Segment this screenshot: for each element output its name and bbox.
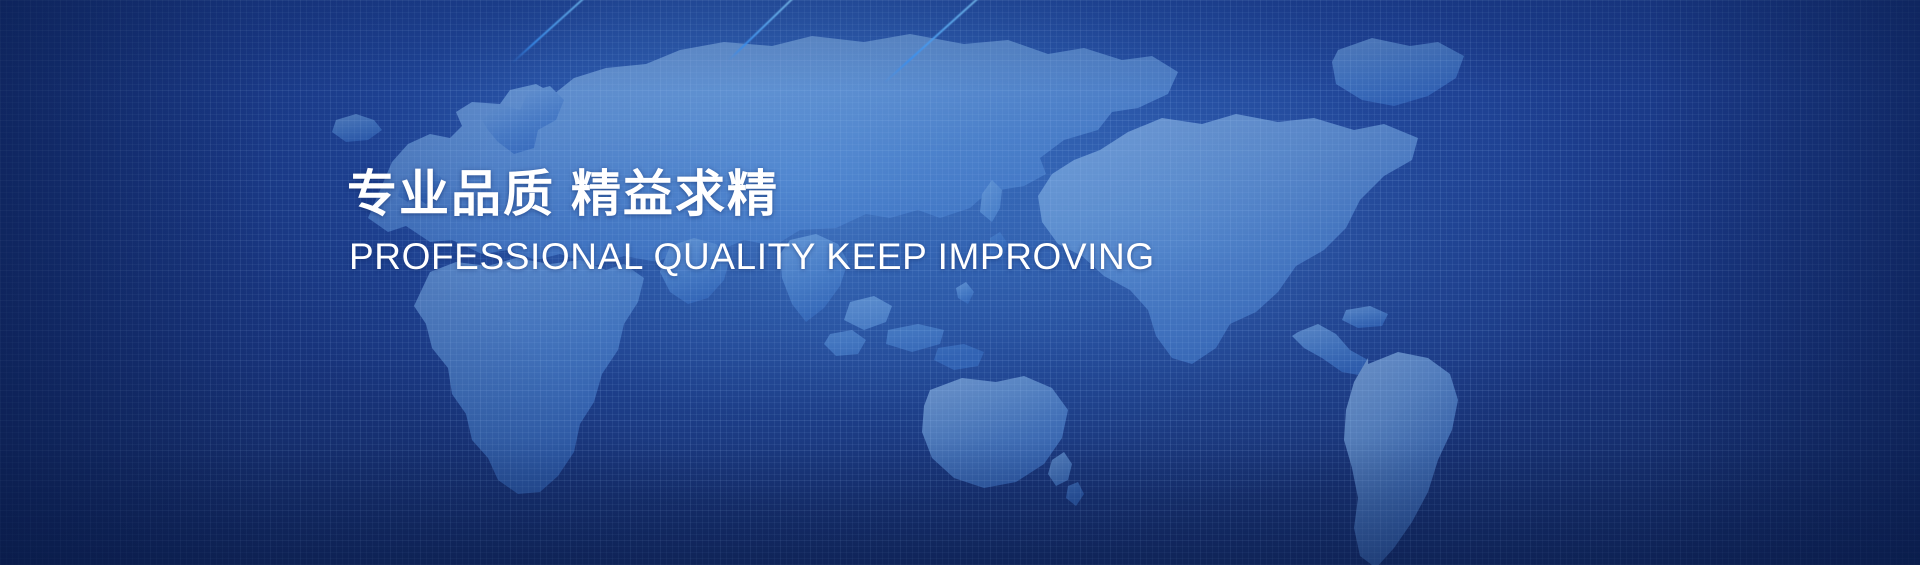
banner-subheadline-english: PROFESSIONAL QUALITY KEEP IMPROVING (349, 234, 1155, 280)
banner-text-block: 专业品质 精益求精 PROFESSIONAL QUALITY KEEP IMPR… (347, 162, 1155, 280)
promotional-banner: 专业品质 精益求精 PROFESSIONAL QUALITY KEEP IMPR… (0, 0, 1920, 565)
world-map-icon (130, 0, 1470, 565)
banner-headline-chinese: 专业品质 精益求精 (347, 162, 1155, 226)
